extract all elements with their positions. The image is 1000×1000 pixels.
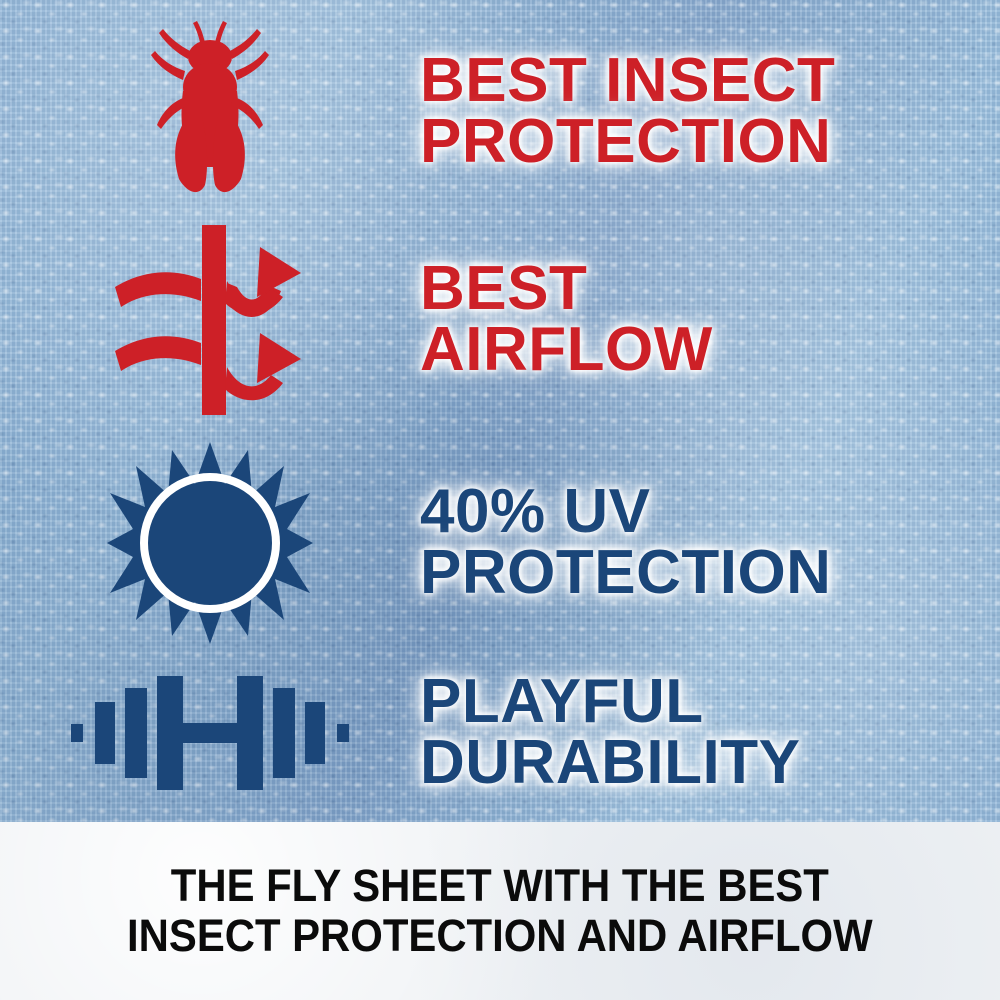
feature-label-insect-line2: PROTECTION xyxy=(420,112,976,173)
feature-icon-cell-uv xyxy=(0,440,420,646)
bottom-caption-text: THE FLY SHEET WITH THE BEST INSECT PROTE… xyxy=(127,861,873,962)
sun-uv-icon xyxy=(107,440,313,646)
feature-text-cell-durability: PLAYFUL DURABILITY xyxy=(420,672,1000,794)
feature-text-cell-uv: 40% UV PROTECTION xyxy=(420,482,1000,604)
feature-label-uv-line1: 40% UV xyxy=(420,477,650,546)
feature-text-cell-insect: BEST INSECT PROTECTION xyxy=(420,51,1000,173)
feature-text-cell-airflow: BEST AIRFLOW xyxy=(420,259,1000,381)
airflow-icon xyxy=(105,225,315,415)
feature-label-durability: PLAYFUL DURABILITY xyxy=(420,672,976,794)
feature-label-airflow-line1: BEST xyxy=(420,254,587,323)
feature-icon-cell-airflow xyxy=(0,225,420,415)
feature-label-airflow: BEST AIRFLOW xyxy=(420,259,976,381)
dumbbell-icon xyxy=(71,668,349,798)
feature-label-uv-line2: PROTECTION xyxy=(420,543,976,604)
feature-label-uv: 40% UV PROTECTION xyxy=(420,482,976,604)
feature-label-insect-line1: BEST INSECT xyxy=(420,46,835,115)
feature-label-durability-line2: DURABILITY xyxy=(420,733,976,794)
bottom-caption-band: THE FLY SHEET WITH THE BEST INSECT PROTE… xyxy=(0,822,1000,1000)
feature-row-durability: PLAYFUL DURABILITY xyxy=(0,648,1000,818)
feature-row-airflow: BEST AIRFLOW xyxy=(0,222,1000,418)
product-feature-infographic: BEST INSECT PROTECTION xyxy=(0,0,1000,1000)
feature-label-insect: BEST INSECT PROTECTION xyxy=(420,51,976,173)
feature-icon-cell-insect xyxy=(0,17,420,207)
feature-label-durability-line1: PLAYFUL xyxy=(420,667,704,736)
fly-icon xyxy=(135,17,285,207)
feature-row-insect-protection: BEST INSECT PROTECTION xyxy=(0,14,1000,210)
feature-icon-cell-durability xyxy=(0,668,420,798)
feature-row-uv-protection: 40% UV PROTECTION xyxy=(0,440,1000,646)
bottom-caption-line1: THE FLY SHEET WITH THE BEST xyxy=(171,860,829,911)
bottom-caption-line2: INSECT PROTECTION AND AIRFLOW xyxy=(127,911,873,961)
feature-label-airflow-line2: AIRFLOW xyxy=(420,320,976,381)
